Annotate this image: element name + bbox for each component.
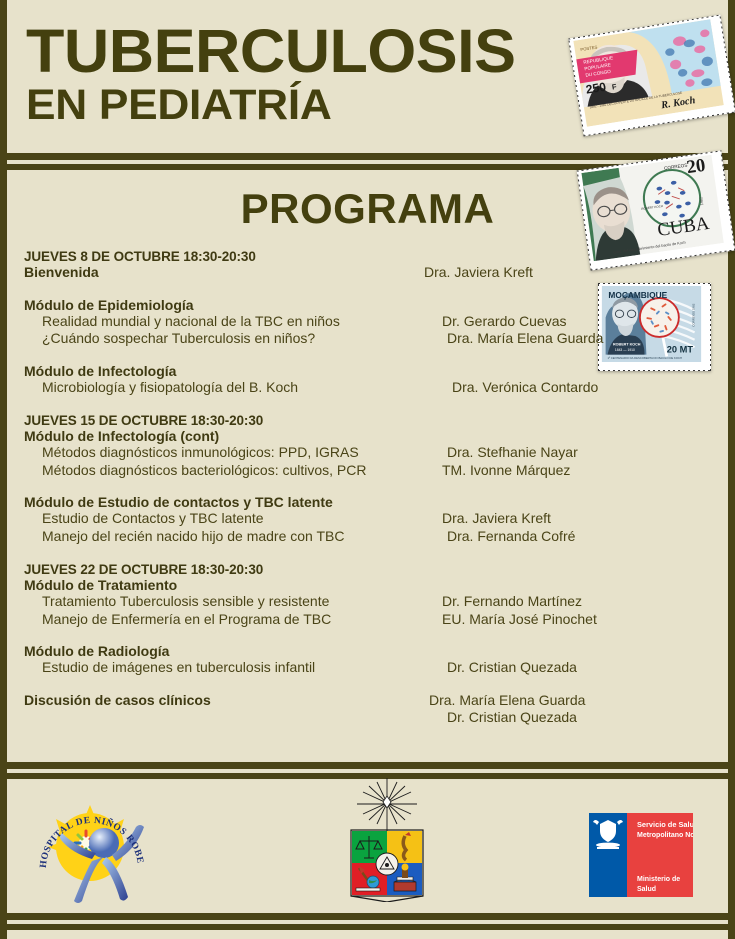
program-row: Estudio de imágenes en tuberculosis infa… bbox=[24, 659, 684, 677]
poster: TUBERCULOSIS EN PEDIATRÍA bbox=[0, 0, 735, 939]
program-row: ¿Cuándo sospechar Tuberculosis en niños?… bbox=[24, 330, 684, 348]
session-date: JUEVES 8 DE OCTUBRE 18:30-20:30 bbox=[24, 249, 684, 264]
program-speaker: TM. Ivonne Márquez bbox=[442, 462, 684, 480]
program-speaker: Dra. Javiera Kreft bbox=[424, 264, 684, 282]
program-row: Realidad mundial y nacional de la TBC en… bbox=[24, 313, 684, 331]
program-speaker: Dr. Gerardo Cuevas bbox=[442, 313, 684, 331]
program-topic: ¿Cuándo sospechar Tuberculosis en niños? bbox=[24, 330, 442, 348]
program-row: Métodos diagnósticos inmunológicos: PPD,… bbox=[24, 444, 684, 462]
program-row: Estudio de Contactos y TBC latente Dra. … bbox=[24, 510, 684, 528]
page-title: TUBERCULOSIS bbox=[26, 22, 623, 80]
logo-hospital-roberto-del-rio: HOSPITAL DE NIÑOS ROBERTO DEL RIO bbox=[32, 797, 160, 905]
divider-bottom bbox=[7, 913, 728, 930]
minsal-line-2: Metropolitano Norte bbox=[637, 832, 693, 839]
program-topic: Discusión de casos clínicos bbox=[24, 692, 424, 710]
program-topic: Microbiología y fisiopatología del B. Ko… bbox=[24, 379, 442, 397]
program-row: Manejo del recién nacido hijo de madre c… bbox=[24, 528, 684, 546]
program-topic: Realidad mundial y nacional de la TBC en… bbox=[24, 313, 442, 331]
minsal-line-4: Salud bbox=[637, 886, 656, 893]
program-topic: Estudio de Contactos y TBC latente bbox=[24, 510, 442, 528]
program-speaker: Dr. Cristian Quezada bbox=[442, 709, 684, 727]
program-speaker: Dra. Verónica Contardo bbox=[442, 379, 684, 397]
stamp-congo-art: POSTES REPUBLIQUE POPULAIRE DU CONGO 250… bbox=[572, 19, 726, 127]
program-topic: Tratamiento Tuberculosis sensible y resi… bbox=[24, 593, 442, 611]
minsal-line-3: Ministerio de bbox=[637, 876, 680, 883]
program-row: Bienvenida Dra. Javiera Kreft bbox=[24, 264, 684, 282]
program-topic: Bienvenida bbox=[24, 264, 424, 282]
module-title: Módulo de Epidemiología bbox=[24, 297, 684, 313]
program-speaker: Dra. María Elena Guarda bbox=[442, 330, 684, 348]
logo-hospital-art: HOSPITAL DE NIÑOS ROBERTO DEL RIO bbox=[32, 797, 160, 905]
program-topic: Manejo de Enfermería en el Programa de T… bbox=[24, 611, 442, 629]
page-subtitle: EN PEDIATRÍA bbox=[26, 82, 623, 129]
svg-text:20: 20 bbox=[685, 155, 706, 178]
svg-text:CORREIOS 1982: CORREIOS 1982 bbox=[692, 303, 696, 326]
module-title: Módulo de Radiología bbox=[24, 643, 684, 659]
program-speaker: Dr. Fernando Martínez bbox=[442, 593, 684, 611]
program-row: Discusión de casos clínicos Dra. María E… bbox=[24, 692, 684, 710]
logo-minsal-art: Servicio de Salud Metropolitano Norte Mi… bbox=[589, 813, 693, 897]
session-date: JUEVES 15 DE OCTUBRE 18:30-20:30 bbox=[24, 413, 684, 428]
module-title: Módulo de Infectología (cont) bbox=[24, 428, 684, 444]
program-row: Manejo de Enfermería en el Programa de T… bbox=[24, 611, 684, 629]
program-speaker: Dra. Javiera Kreft bbox=[442, 510, 684, 528]
program-speaker: Dra. Fernanda Cofré bbox=[442, 528, 684, 546]
program-speaker: Dr. Cristian Quezada bbox=[442, 659, 684, 677]
program-speaker: Dra. María Elena Guarda bbox=[424, 692, 684, 710]
module-title: Módulo de Tratamiento bbox=[24, 577, 684, 593]
divider-footer-top bbox=[7, 762, 728, 779]
program-speaker: Dra. Stefhanie Nayar bbox=[442, 444, 684, 462]
module-title: Módulo de Estudio de contactos y TBC lat… bbox=[24, 494, 684, 510]
logo-uchile-art bbox=[343, 778, 431, 902]
program-speaker: EU. María José Pinochet bbox=[442, 611, 684, 629]
poster-title-block: TUBERCULOSIS EN PEDIATRÍA bbox=[26, 22, 606, 129]
program-topic: Métodos diagnósticos bacteriológicos: cu… bbox=[24, 462, 442, 480]
page-border-right bbox=[728, 0, 735, 939]
session-date: JUEVES 22 DE OCTUBRE 18:30-20:30 bbox=[24, 562, 684, 577]
minsal-line-1: Servicio de Salud bbox=[637, 820, 693, 829]
program-row: Dr. Cristian Quezada bbox=[24, 709, 684, 727]
page-border-left bbox=[0, 0, 7, 939]
program-schedule: JUEVES 8 DE OCTUBRE 18:30-20:30 Bienveni… bbox=[24, 249, 684, 727]
program-topic: Métodos diagnósticos inmunológicos: PPD,… bbox=[24, 444, 442, 462]
program-topic: Estudio de imágenes en tuberculosis infa… bbox=[24, 659, 442, 677]
module-title: Módulo de Infectología bbox=[24, 363, 684, 379]
logo-universidad-de-chile bbox=[343, 778, 431, 902]
logo-ministerio-de-salud: Servicio de Salud Metropolitano Norte Mi… bbox=[589, 813, 693, 897]
program-topic: Manejo del recién nacido hijo de madre c… bbox=[24, 528, 442, 546]
program-row: Microbiología y fisiopatología del B. Ko… bbox=[24, 379, 684, 397]
program-row: Tratamiento Tuberculosis sensible y resi… bbox=[24, 593, 684, 611]
stamp-cuba-art: CORREOS 20 1982 ROBERT KOCH CUBA Cent. d… bbox=[580, 155, 725, 262]
program-row: Métodos diagnósticos bacteriológicos: cu… bbox=[24, 462, 684, 480]
